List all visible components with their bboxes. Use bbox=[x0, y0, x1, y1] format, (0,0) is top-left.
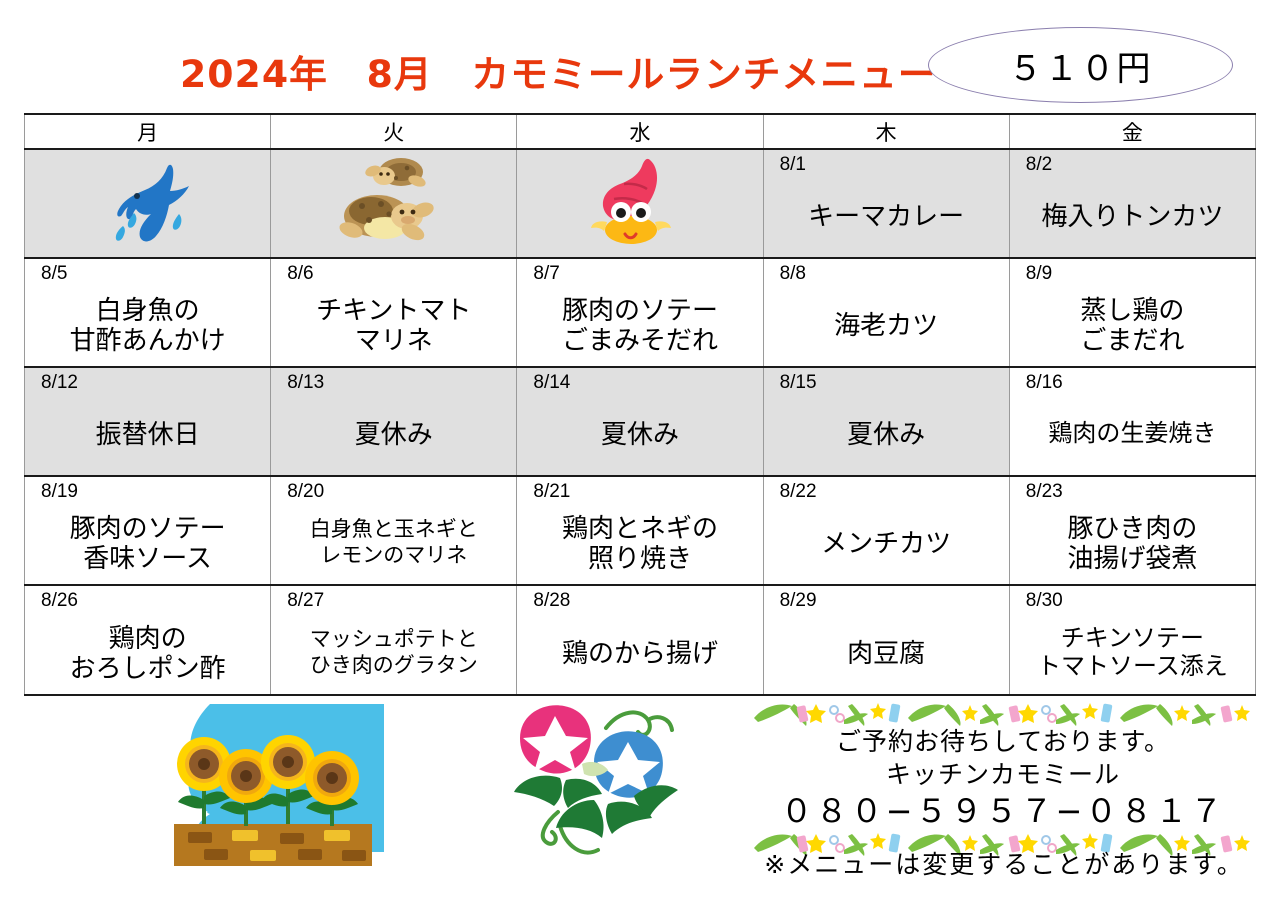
cell-menu: 鶏肉のおろしポン酢 bbox=[25, 613, 270, 692]
calendar-row: 8/1 キーマカレー 8/2 梅入りトンカツ bbox=[25, 149, 1256, 258]
calendar-cell[interactable]: 8/22 メンチカツ bbox=[763, 476, 1009, 585]
phone-number[interactable]: ０８０−５９５７−０８１７ bbox=[748, 792, 1258, 830]
calendar-cell[interactable]: 8/19 豚肉のソテー香味ソース bbox=[25, 476, 271, 585]
weekday-header-tue: 火 bbox=[271, 114, 517, 149]
cell-menu: チキントマトマリネ bbox=[271, 286, 516, 364]
calendar-cell[interactable]: 8/14 夏休み bbox=[517, 367, 763, 476]
calendar-cell[interactable]: 8/20 白身魚と玉ネギとレモンのマリネ bbox=[271, 476, 517, 585]
cell-date: 8/23 bbox=[1016, 481, 1249, 503]
cell-date: 8/8 bbox=[770, 263, 1003, 285]
page-header: 2024年 8月 カモミールランチメニュー ５１０円 bbox=[0, 0, 1280, 110]
price-label: ５１０円 bbox=[929, 28, 1232, 102]
cell-date: 8/5 bbox=[31, 263, 264, 285]
calendar-cell[interactable]: 8/23 豚ひき肉の油揚げ袋煮 bbox=[1009, 476, 1255, 585]
cell-date: 8/26 bbox=[31, 590, 264, 612]
weekday-header-mon: 月 bbox=[25, 114, 271, 149]
cell-date: 8/16 bbox=[1016, 372, 1249, 394]
cell-menu: 豚肉のソテーごまみそだれ bbox=[517, 286, 762, 364]
calendar-row: 8/5 白身魚の甘酢あんかけ 8/6 チキントマトマリネ 8/7 豚肉のソテーご… bbox=[25, 258, 1256, 367]
calendar-cell[interactable]: 8/9 蒸し鶏のごまだれ bbox=[1009, 258, 1255, 367]
calendar-cell[interactable] bbox=[517, 149, 763, 258]
cell-date: 8/15 bbox=[770, 372, 1003, 394]
tanabata-decoration-top-icon bbox=[748, 700, 1258, 726]
calendar-cell[interactable]: 8/28 鶏のから揚げ bbox=[517, 585, 763, 695]
cell-date: 8/20 bbox=[277, 481, 510, 503]
sea-turtle-icon bbox=[271, 150, 516, 257]
calendar-cell[interactable]: 8/29 肉豆腐 bbox=[763, 585, 1009, 695]
calendar-cell[interactable]: 8/16 鶏肉の生姜焼き bbox=[1009, 367, 1255, 476]
cell-menu: マッシュポテトとひき肉のグラタン bbox=[271, 613, 516, 692]
calendar-row: 8/12 振替休日 8/13 夏休み 8/14 夏休み 8/15 夏休み 8/1… bbox=[25, 367, 1256, 476]
cell-date: 8/27 bbox=[277, 590, 510, 612]
cell-date: 8/28 bbox=[523, 590, 756, 612]
calendar-row: 8/26 鶏肉のおろしポン酢 8/27 マッシュポテトとひき肉のグラタン 8/2… bbox=[25, 585, 1256, 695]
calendar-cell[interactable]: 8/26 鶏肉のおろしポン酢 bbox=[25, 585, 271, 695]
cell-date: 8/2 bbox=[1016, 154, 1249, 176]
menu-change-note: ※メニューは変更することがあります。 bbox=[744, 845, 1264, 881]
cell-menu: 海老カツ bbox=[764, 286, 1009, 364]
cell-menu: 鶏肉とネギの照り焼き bbox=[517, 504, 762, 582]
contact-block: ご予約お待ちしております。 キッチンカモミール ０８０−５９５７−０８１７ bbox=[748, 700, 1258, 856]
cell-date: 8/6 bbox=[277, 263, 510, 285]
calendar-row: 8/19 豚肉のソテー香味ソース 8/20 白身魚と玉ネギとレモンのマリネ 8/… bbox=[25, 476, 1256, 585]
cell-menu: 夏休み bbox=[517, 395, 762, 473]
cell-menu: 梅入りトンカツ bbox=[1010, 177, 1255, 255]
price-badge: ５１０円 bbox=[928, 27, 1233, 103]
cell-date: 8/7 bbox=[523, 263, 756, 285]
calendar-cell[interactable]: 8/8 海老カツ bbox=[763, 258, 1009, 367]
calendar-cell[interactable]: 8/1 キーマカレー bbox=[763, 149, 1009, 258]
cell-date: 8/12 bbox=[31, 372, 264, 394]
weekday-header-wed: 水 bbox=[517, 114, 763, 149]
menu-calendar-table: 月 火 水 木 金 bbox=[24, 113, 1256, 696]
cell-date: 8/22 bbox=[770, 481, 1003, 503]
cell-menu: 肉豆腐 bbox=[764, 613, 1009, 692]
cell-menu: 豚肉のソテー香味ソース bbox=[25, 504, 270, 582]
cell-menu: 鶏肉の生姜焼き bbox=[1010, 395, 1255, 473]
calendar-cell[interactable] bbox=[271, 149, 517, 258]
weekday-header-row: 月 火 水 木 金 bbox=[25, 114, 1256, 149]
sunflower-illustration bbox=[152, 702, 388, 872]
calendar-cell[interactable]: 8/30 チキンソテートマトソース添え bbox=[1009, 585, 1255, 695]
calendar-cell[interactable]: 8/5 白身魚の甘酢あんかけ bbox=[25, 258, 271, 367]
cell-date: 8/21 bbox=[523, 481, 756, 503]
cell-menu: メンチカツ bbox=[764, 504, 1009, 582]
cell-menu: 振替休日 bbox=[25, 395, 270, 473]
page-title: 2024年 8月 カモミールランチメニュー bbox=[180, 44, 937, 98]
cell-menu: 夏休み bbox=[271, 395, 516, 473]
calendar-cell[interactable]: 8/2 梅入りトンカツ bbox=[1009, 149, 1255, 258]
weekday-header-thu: 木 bbox=[763, 114, 1009, 149]
morning-glory-illustration bbox=[498, 700, 688, 875]
reservation-message: ご予約お待ちしております。 bbox=[748, 726, 1258, 759]
calendar-cell[interactable]: 8/7 豚肉のソテーごまみそだれ bbox=[517, 258, 763, 367]
cell-date: 8/30 bbox=[1016, 590, 1249, 612]
calendar-cell[interactable]: 8/15 夏休み bbox=[763, 367, 1009, 476]
calendar-cell[interactable]: 8/13 夏休み bbox=[271, 367, 517, 476]
cell-date: 8/14 bbox=[523, 372, 756, 394]
cell-menu: 夏休み bbox=[764, 395, 1009, 473]
cell-menu: 白身魚と玉ネギとレモンのマリネ bbox=[271, 504, 516, 582]
calendar-cell[interactable]: 8/12 振替休日 bbox=[25, 367, 271, 476]
cell-menu: 豚ひき肉の油揚げ袋煮 bbox=[1010, 504, 1255, 582]
weekday-header-fri: 金 bbox=[1009, 114, 1255, 149]
shop-name: キッチンカモミール bbox=[748, 759, 1258, 792]
calendar-cell[interactable]: 8/21 鶏肉とネギの照り焼き bbox=[517, 476, 763, 585]
cell-date: 8/29 bbox=[770, 590, 1003, 612]
cell-menu: キーマカレー bbox=[764, 177, 1009, 255]
cell-menu: チキンソテートマトソース添え bbox=[1010, 613, 1255, 692]
calendar-cell[interactable]: 8/27 マッシュポテトとひき肉のグラタン bbox=[271, 585, 517, 695]
cell-menu: 鶏のから揚げ bbox=[517, 613, 762, 692]
calendar-cell[interactable]: 8/6 チキントマトマリネ bbox=[271, 258, 517, 367]
calendar-cell[interactable] bbox=[25, 149, 271, 258]
cell-menu: 蒸し鶏のごまだれ bbox=[1010, 286, 1255, 364]
dolphin-icon bbox=[25, 150, 270, 257]
cell-date: 8/1 bbox=[770, 154, 1003, 176]
cell-menu: 白身魚の甘酢あんかけ bbox=[25, 286, 270, 364]
cell-date: 8/9 bbox=[1016, 263, 1249, 285]
cell-date: 8/19 bbox=[31, 481, 264, 503]
hermit-crab-icon bbox=[517, 150, 762, 257]
cell-date: 8/13 bbox=[277, 372, 510, 394]
